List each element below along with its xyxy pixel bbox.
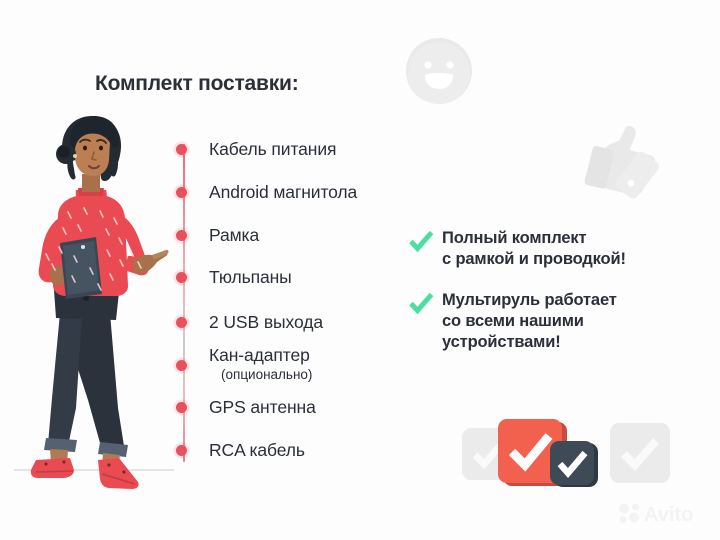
bullet-dot-icon <box>176 402 187 413</box>
list-item-label: Кабель питания <box>209 139 336 159</box>
bullet-dot-icon <box>176 317 187 328</box>
kit-contents-list: Кабель питания Android магнитола Рамка Т… <box>176 130 426 470</box>
list-item-label: 2 USB выхода <box>209 312 323 332</box>
checkbox-dark <box>550 441 594 485</box>
list-item: Android магнитола <box>176 181 357 203</box>
benefit-line: со всеми нашими <box>442 311 617 332</box>
list-item-sublabel: (опционально) <box>221 366 312 383</box>
benefit-item: Полный комплект с рамкой и проводкой! <box>408 228 698 270</box>
bullet-dot-icon <box>176 144 187 155</box>
bullet-dot-icon <box>176 230 187 241</box>
list-item: Кан-адаптер (опционально) <box>176 344 312 383</box>
bullet-dot-icon <box>176 187 187 198</box>
checkbox-cluster-decoration <box>462 415 672 500</box>
list-item-label: Кан-адаптер <box>209 344 312 366</box>
list-item: Рамка <box>176 224 259 246</box>
svg-text:Avito: Avito <box>644 504 693 526</box>
list-item-label: GPS антенна <box>209 397 316 417</box>
smiley-face-icon <box>403 35 475 107</box>
green-check-icon <box>408 291 434 317</box>
checkbox-gray-right <box>610 423 670 483</box>
product-listing-image: Комплект поставки: Кабель питания Androi… <box>0 0 720 540</box>
avito-logo-icon: Avito <box>616 500 712 526</box>
woman-pointing-illustration <box>6 108 176 508</box>
green-check-icon <box>408 229 434 255</box>
list-item-label: Рамка <box>209 225 259 245</box>
page-title: Комплект поставки: <box>95 72 299 96</box>
list-item: Тюльпаны <box>176 266 292 288</box>
list-item-label: Тюльпаны <box>209 267 292 287</box>
benefit-line: Мультируль работает <box>442 290 617 311</box>
list-item: GPS антенна <box>176 396 316 418</box>
benefit-line: Полный комплект <box>442 228 626 249</box>
list-item: 2 USB выхода <box>176 311 323 333</box>
benefit-line: устройствами! <box>442 332 617 353</box>
bullet-dot-icon <box>176 360 187 371</box>
thumbs-up-icon <box>580 112 676 208</box>
benefit-item: Мультируль работает со всеми нашими устр… <box>408 290 698 353</box>
benefit-line: с рамкой и проводкой! <box>442 249 626 270</box>
benefits-list: Полный комплект с рамкой и проводкой! Му… <box>408 228 698 369</box>
list-item: RCA кабель <box>176 439 305 461</box>
list-item-label: RCA кабель <box>209 440 305 460</box>
list-item-label: Android магнитола <box>209 182 357 202</box>
bullet-dot-icon <box>176 272 187 283</box>
bullet-dot-icon <box>176 445 187 456</box>
list-item: Кабель питания <box>176 138 336 160</box>
